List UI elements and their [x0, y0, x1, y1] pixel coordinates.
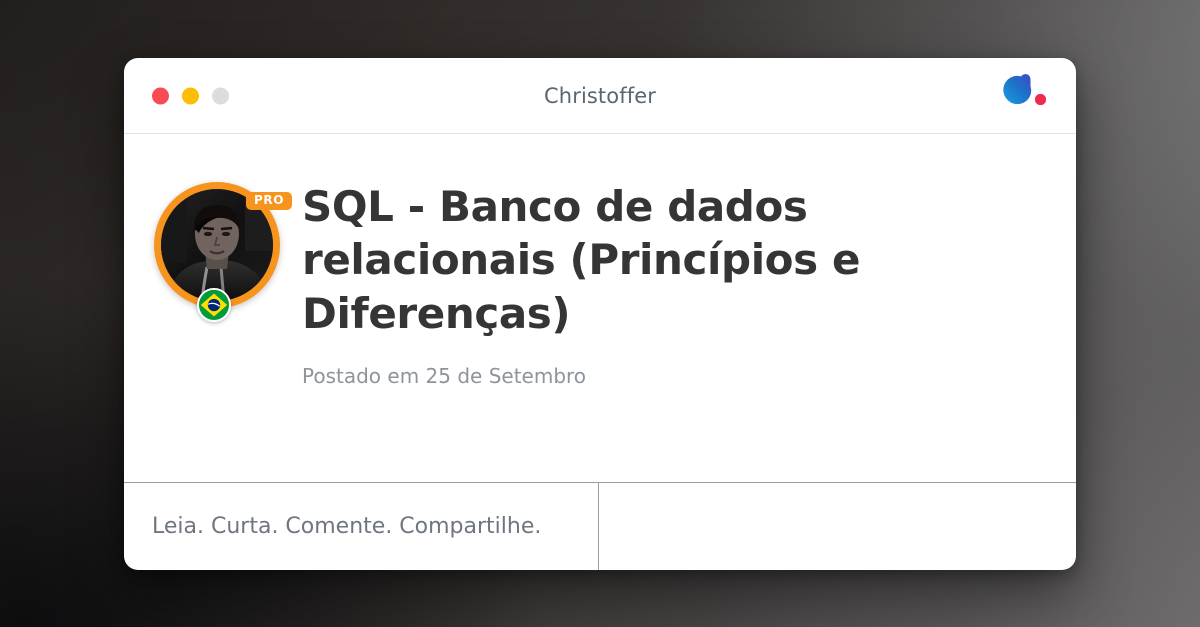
footer-left-panel: Leia. Curta. Comente. Compartilhe.: [124, 483, 599, 570]
maximize-window-button[interactable]: [212, 87, 229, 104]
deezer-blob-logo-icon: [996, 73, 1054, 119]
footer-tagline: Leia. Curta. Comente. Compartilhe.: [152, 514, 541, 539]
window-title: Christoffer: [124, 84, 1076, 108]
footer: Leia. Curta. Comente. Compartilhe.: [124, 482, 1076, 570]
app-window: Christoffer: [124, 58, 1076, 570]
window-titlebar: Christoffer: [124, 58, 1076, 134]
page-title: SQL - Banco de dados relacionais (Princí…: [302, 180, 882, 340]
post-text-block: SQL - Banco de dados relacionais (Princí…: [302, 178, 1042, 482]
pro-badge: PRO: [246, 192, 292, 210]
brazil-flag-icon: [197, 288, 231, 322]
minimize-window-button[interactable]: [182, 87, 199, 104]
post-date: Postado em 25 de Setembro: [302, 364, 1042, 388]
avatar[interactable]: PRO: [154, 182, 280, 308]
post-content: PRO SQL - Banco de dados relacionais (Pr…: [124, 134, 1076, 482]
footer-right-panel: [599, 483, 1076, 570]
window-controls: [152, 87, 229, 104]
close-window-button[interactable]: [152, 87, 169, 104]
